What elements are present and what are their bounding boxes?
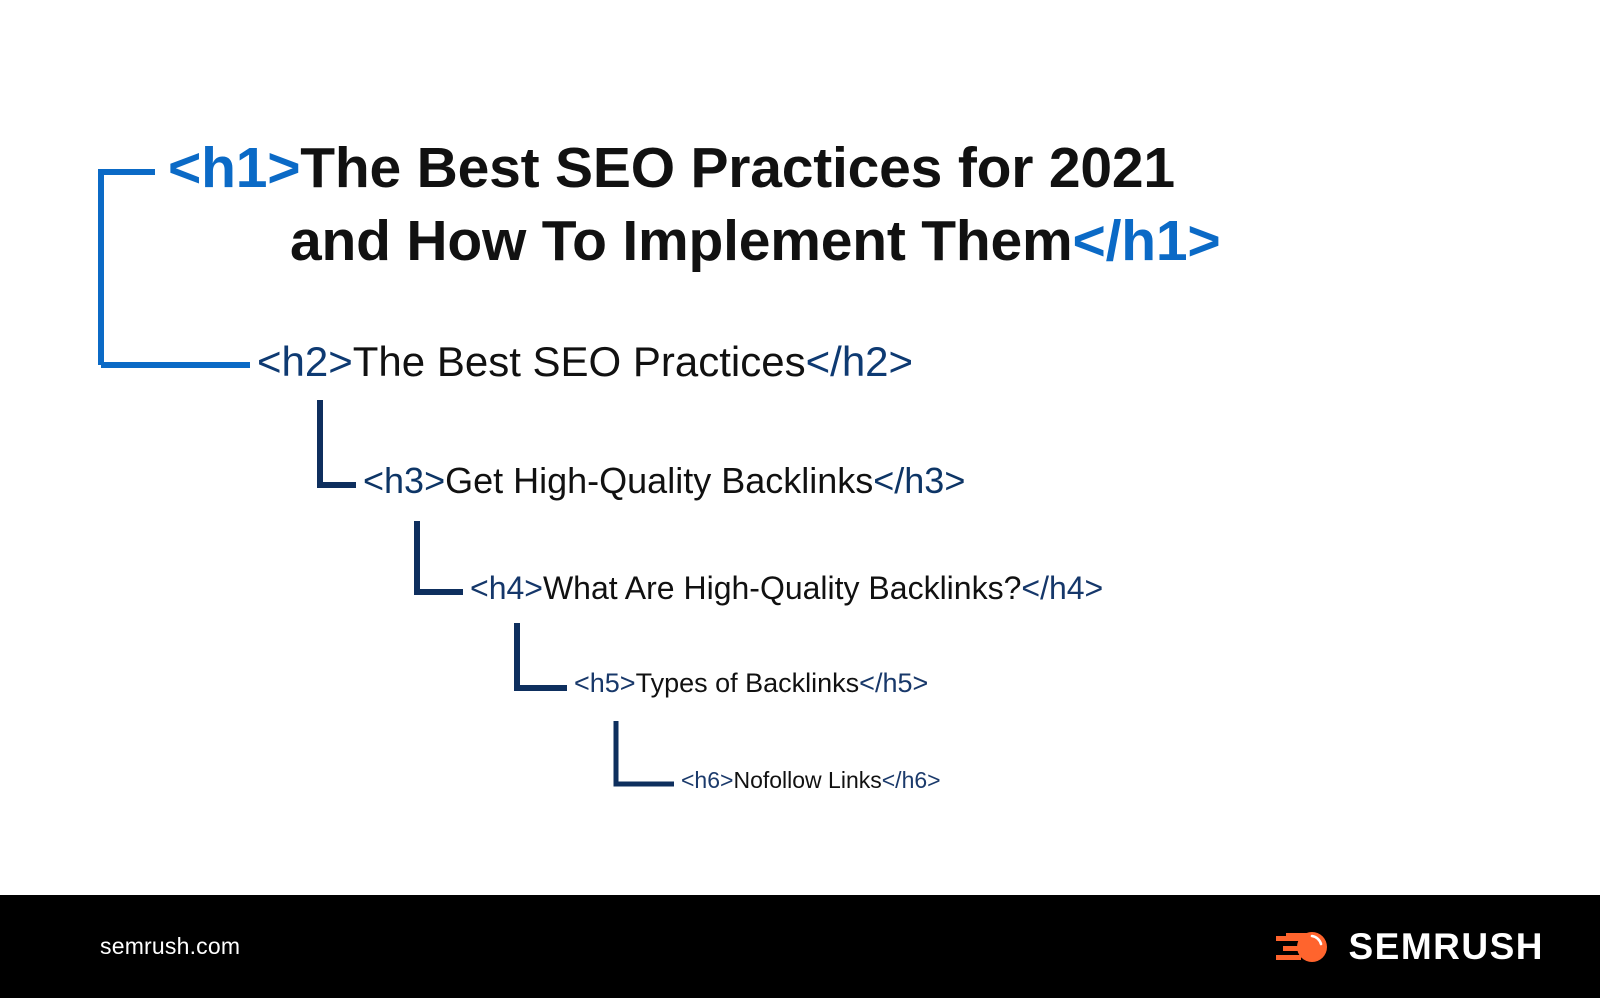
- connector-h1-stub: [101, 172, 155, 365]
- connector-h4-to-h5: [517, 623, 567, 688]
- h1-text-line-2: and How To Implement Them: [290, 209, 1072, 273]
- connector-h2-to-h3: [320, 400, 356, 485]
- h5-open-tag: <h5>: [574, 668, 636, 698]
- h1-close-tag: </h1>: [1072, 209, 1220, 273]
- h5-close-tag: </h5>: [859, 668, 928, 698]
- hierarchy-connectors: [0, 0, 1600, 900]
- semrush-comet-icon: [1274, 927, 1332, 967]
- h6-open-tag: <h6>: [681, 767, 733, 793]
- heading-line-1: <h1>The Best SEO Practices for 2021: [168, 136, 1175, 200]
- h1-open-tag: <h1>: [168, 136, 300, 200]
- h2-open-tag: <h2>: [257, 338, 353, 385]
- heading-node-h1: <h1>The Best SEO Practices for 2021and H…: [168, 140, 1220, 270]
- heading-node-h6: <h6>Nofollow Links</h6>: [681, 769, 941, 792]
- h6-text: Nofollow Links: [733, 767, 881, 793]
- h4-open-tag: <h4>: [470, 570, 543, 606]
- h4-close-tag: </h4>: [1021, 570, 1103, 606]
- heading-node-h5: <h5>Types of Backlinks</h5>: [574, 670, 928, 697]
- brand-name: SEMRUSH: [1348, 926, 1544, 968]
- footer-bar: semrush.com SEMRUSH: [0, 895, 1600, 998]
- h2-text: The Best SEO Practices: [353, 338, 806, 385]
- h6-close-tag: </h6>: [882, 767, 941, 793]
- heading-node-h2: <h2>The Best SEO Practices</h2>: [257, 341, 913, 383]
- h3-open-tag: <h3>: [363, 460, 445, 501]
- infographic-canvas: <h1>The Best SEO Practices for 2021and H…: [0, 0, 1600, 998]
- connector-h3-to-h4: [417, 521, 463, 592]
- h5-text: Types of Backlinks: [636, 668, 860, 698]
- footer-url: semrush.com: [100, 933, 240, 960]
- connector-h5-to-h6: [616, 721, 674, 784]
- heading-node-h3: <h3>Get High-Quality Backlinks</h3>: [363, 463, 965, 499]
- h3-text: Get High-Quality Backlinks: [445, 460, 873, 501]
- heading-node-h4: <h4>What Are High-Quality Backlinks?</h4…: [470, 572, 1103, 604]
- semrush-logo: SEMRUSH: [1274, 926, 1544, 968]
- h1-text-line-1: The Best SEO Practices for 2021: [300, 136, 1175, 200]
- h2-close-tag: </h2>: [806, 338, 913, 385]
- h3-close-tag: </h3>: [873, 460, 965, 501]
- heading-line-2: and How To Implement Them</h1>: [290, 213, 1220, 270]
- h4-text: What Are High-Quality Backlinks?: [543, 570, 1021, 606]
